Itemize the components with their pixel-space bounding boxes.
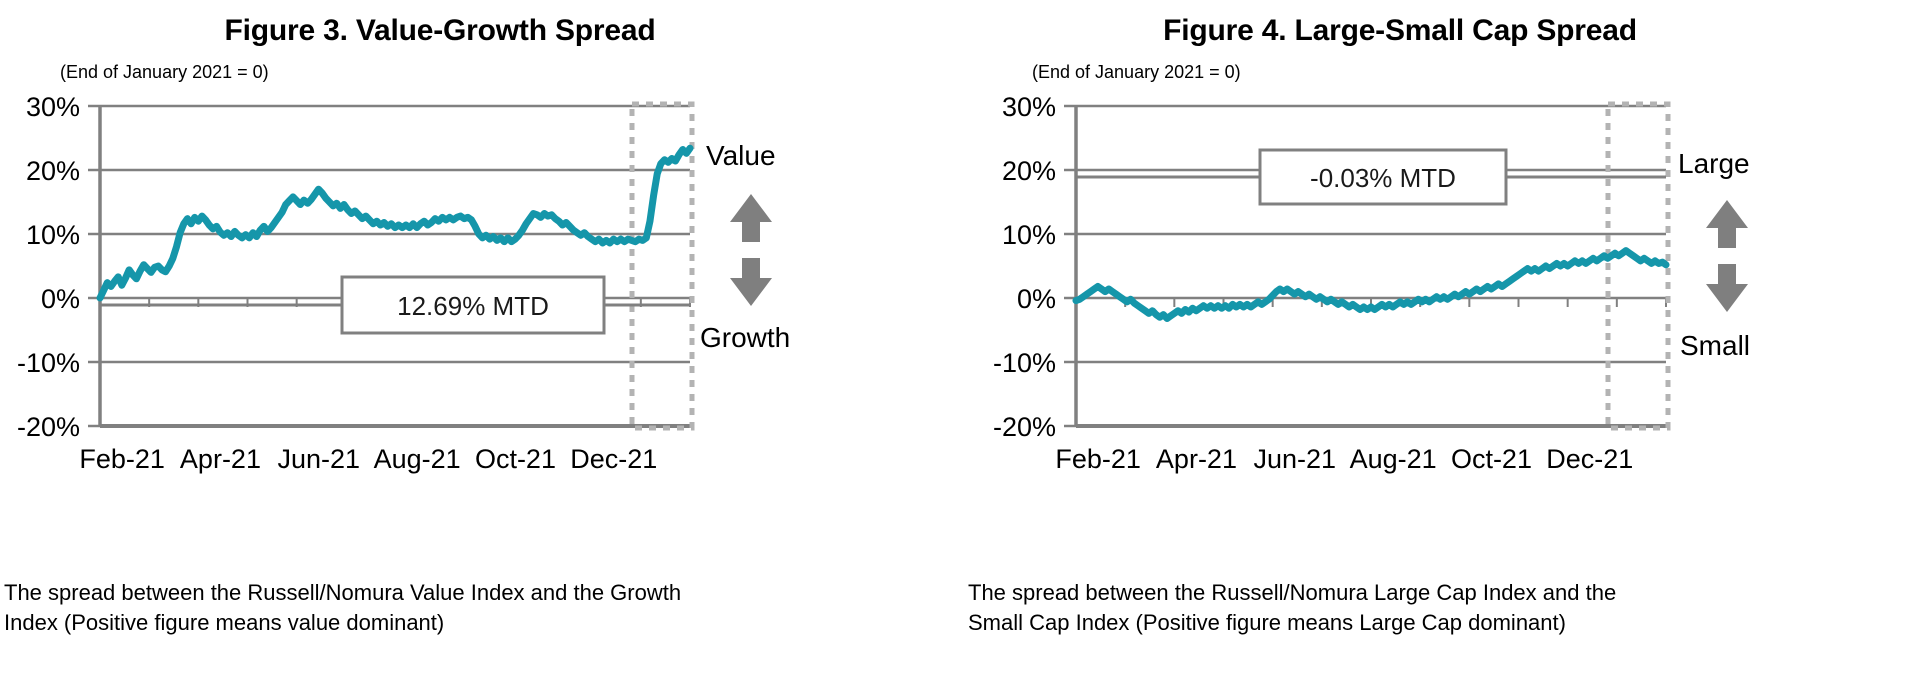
y-tick-label: -10% <box>17 348 80 378</box>
y-tick-label: -20% <box>993 412 1056 442</box>
y-tick-label: -10% <box>993 348 1056 378</box>
y-tick-label: 0% <box>1017 284 1056 314</box>
x-tick-label: Feb-21 <box>79 444 165 474</box>
data-series-line <box>1076 251 1666 319</box>
y-tick-label: 30% <box>1002 92 1056 122</box>
figure-4-ytick-labels: 30%20%10%0%-10%-20% <box>993 92 1056 442</box>
figure-4-subtitle: (End of January 2021 = 0) <box>1032 62 1241 83</box>
y-tick-label: 30% <box>26 92 80 122</box>
figure-4-bottom-side-label: Small <box>1680 330 1750 362</box>
y-tick-label: 10% <box>1002 220 1056 250</box>
figure-4-panel: Figure 4. Large-Small Cap Spread (End of… <box>960 0 1920 698</box>
y-tick-label: -20% <box>17 412 80 442</box>
figure-3-xtick-labels: Feb-21Apr-21Jun-21Aug-21Oct-21Dec-21 <box>79 444 657 474</box>
x-tick-label: Aug-21 <box>374 444 461 474</box>
figures-page: Figure 3. Value-Growth Spread (End of Ja… <box>0 0 1920 698</box>
figure-3-top-side-label: Value <box>706 140 776 172</box>
x-tick-label: Dec-21 <box>1546 444 1633 474</box>
x-tick-label: Jun-21 <box>1254 444 1337 474</box>
down-arrow-icon <box>1706 264 1748 312</box>
figure-4-svg: 30%20%10%0%-10%-20% Feb-21Apr-21Jun-21Au… <box>960 92 1920 492</box>
figure-4-xtick-labels: Feb-21Apr-21Jun-21Aug-21Oct-21Dec-21 <box>1055 444 1633 474</box>
figure-3-mtd-callout: 12.69% MTD <box>100 277 690 333</box>
figure-4-series-line <box>1076 251 1666 319</box>
figure-4-caption-line-1: The spread between the Russell/Nomura La… <box>968 578 1738 608</box>
x-tick-label: Oct-21 <box>1451 444 1532 474</box>
y-tick-label: 20% <box>26 156 80 186</box>
up-arrow-icon <box>1706 200 1748 248</box>
figure-4-caption: The spread between the Russell/Nomura La… <box>968 578 1738 638</box>
mtd-callout-text: -0.03% MTD <box>1310 163 1456 193</box>
figure-4-plot: 30%20%10%0%-10%-20% Feb-21Apr-21Jun-21Au… <box>960 92 1920 492</box>
figure-3-title: Figure 3. Value-Growth Spread <box>0 14 880 48</box>
x-tick-label: Apr-21 <box>1156 444 1237 474</box>
figure-3-gridlines <box>100 106 690 426</box>
figure-4-mtd-callout: -0.03% MTD <box>1076 150 1666 204</box>
figure-4-up-down-arrows <box>1702 196 1752 316</box>
figure-3-subtitle: (End of January 2021 = 0) <box>60 62 269 83</box>
figure-3-plot: 30%20%10%0%-10%-20% Feb-21Apr-21Jun-21Au… <box>0 92 960 492</box>
up-arrow-icon <box>730 194 772 242</box>
figure-3-ytick-labels: 30%20%10%0%-10%-20% <box>17 92 80 442</box>
y-tick-label: 0% <box>41 284 80 314</box>
figure-4-caption-line-2: Small Cap Index (Positive figure means L… <box>968 608 1738 638</box>
mtd-callout-text: 12.69% MTD <box>397 291 549 321</box>
x-tick-label: Dec-21 <box>570 444 657 474</box>
figure-3-axes <box>88 106 690 426</box>
figure-3-bottom-side-label: Growth <box>700 322 790 354</box>
x-tick-label: Apr-21 <box>180 444 261 474</box>
x-tick-label: Feb-21 <box>1055 444 1141 474</box>
figure-4-title: Figure 4. Large-Small Cap Spread <box>960 14 1840 48</box>
figure-3-panel: Figure 3. Value-Growth Spread (End of Ja… <box>0 0 960 698</box>
y-tick-label: 10% <box>26 220 80 250</box>
down-arrow-icon <box>730 258 772 306</box>
y-tick-label: 20% <box>1002 156 1056 186</box>
figure-3-caption-line-2: Index (Positive figure means value domin… <box>4 608 774 638</box>
x-tick-label: Jun-21 <box>278 444 361 474</box>
figure-3-caption-line-1: The spread between the Russell/Nomura Va… <box>4 578 774 608</box>
figure-3-svg: 30%20%10%0%-10%-20% Feb-21Apr-21Jun-21Au… <box>0 92 960 492</box>
figure-3-caption: The spread between the Russell/Nomura Va… <box>4 578 774 638</box>
figure-4-top-side-label: Large <box>1678 148 1750 180</box>
x-tick-label: Oct-21 <box>475 444 556 474</box>
figure-3-up-down-arrows <box>726 190 776 310</box>
x-tick-label: Aug-21 <box>1350 444 1437 474</box>
